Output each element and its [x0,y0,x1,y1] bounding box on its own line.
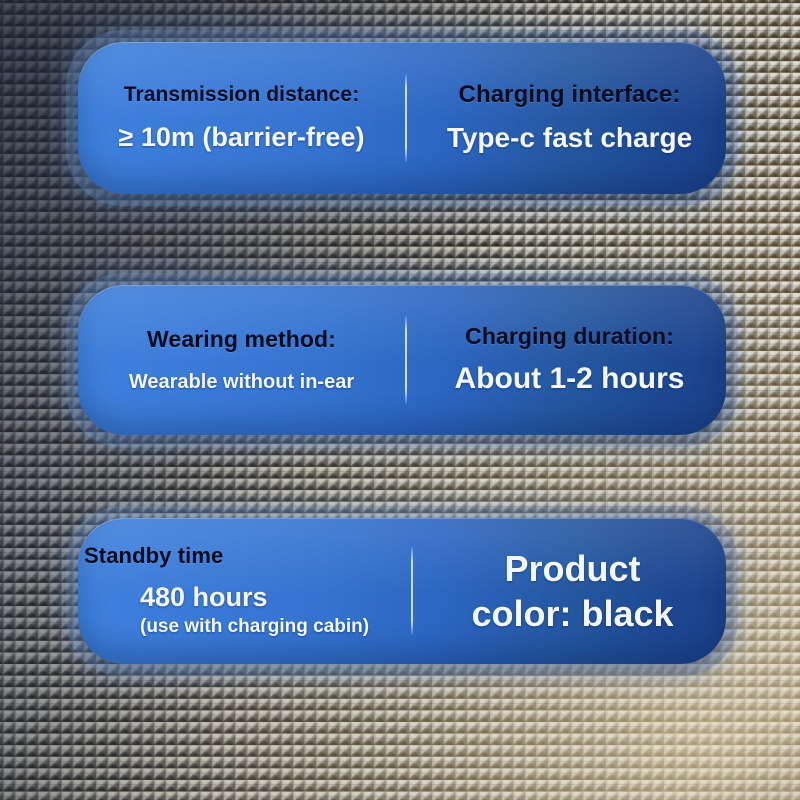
spec-card-wearing-charging-duration: Wearing method: Wearable without in-ear … [78,285,726,435]
spec-item-charging-interface: Charging interface: Type-c fast charge [407,42,726,194]
spec-label: Charging duration: [465,323,674,350]
spec-card-transmission-charging: Transmission distance: ≥ 10m (barrier-fr… [78,42,726,194]
spec-value-note: (use with charging cabin) [84,616,369,639]
spec-label: Standby time [84,543,223,569]
spec-item-product-color: Product color: black [413,518,726,664]
spec-value-line1: Product [504,547,640,590]
spec-infographic: Transmission distance: ≥ 10m (barrier-fr… [0,0,800,800]
spec-item-charging-duration: Charging duration: About 1-2 hours [407,285,726,435]
card-surface: Transmission distance: ≥ 10m (barrier-fr… [78,42,726,194]
spec-value: About 1-2 hours [455,361,685,397]
spec-value: ≥ 10m (barrier-free) [119,121,365,153]
spec-value: Type-c fast charge [447,121,692,155]
spec-item-transmission-distance: Transmission distance: ≥ 10m (barrier-fr… [78,42,405,194]
spec-value: 480 hours [84,581,268,613]
spec-label: Wearing method: [147,326,336,353]
spec-label: Charging interface: [459,81,681,109]
card-surface: Wearing method: Wearable without in-ear … [78,285,726,435]
spec-label: Transmission distance: [124,83,360,108]
spec-item-standby-time: Standby time 480 hours (use with chargin… [78,518,411,664]
spec-card-standby-color: Standby time 480 hours (use with chargin… [78,518,726,664]
card-surface: Standby time 480 hours (use with chargin… [78,518,726,664]
spec-value: Wearable without in-ear [129,370,354,394]
spec-item-wearing-method: Wearing method: Wearable without in-ear [78,285,405,435]
spec-value-line2: color: black [471,592,673,635]
